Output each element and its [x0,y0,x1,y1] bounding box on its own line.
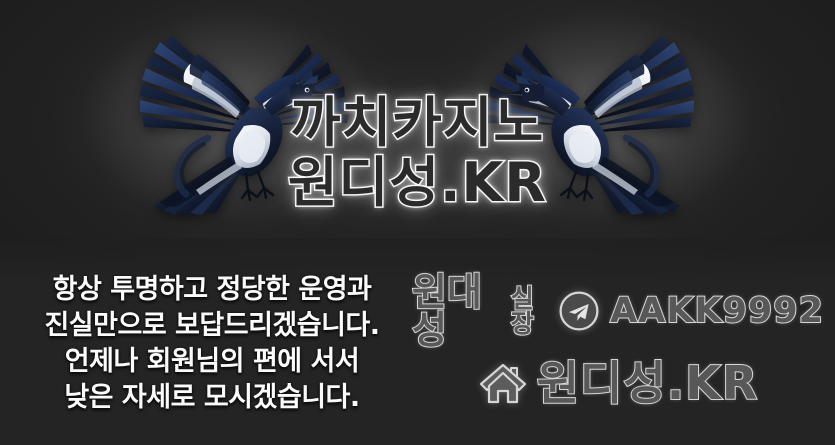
manager-title: 실장 [511,286,549,336]
telegram-handle[interactable]: AAKK9992 [610,294,824,329]
casino-promo-banner: 까치카지노 원디성.KR 항상 투명하고 정당한 운영과 진실만으로 보답드리겠… [0,0,835,445]
slogan-block: 항상 투명하고 정당한 운영과 진실만으로 보답드리겠습니다. 언제나 회원님의… [14,272,410,416]
brand-title-line2: 원디성.KR [0,156,835,210]
manager-name: 원대성 [412,273,500,349]
slogan-line-3: 언제나 회원님의 편에 서서 [14,344,410,380]
logo-hero-area: 까치카지노 원디성.KR [0,0,835,250]
home-icon[interactable] [478,360,528,406]
brand-title: 까치카지노 원디성.KR [0,96,835,210]
telegram-icon[interactable] [558,290,600,332]
website-domain[interactable]: 원디성.KR [537,360,759,406]
website-row[interactable]: 원디성.KR [412,344,824,422]
brand-title-line1: 까치카지노 [0,96,835,150]
slogan-line-1: 항상 투명하고 정당한 운영과 [14,272,410,308]
slogan-line-4: 낮은 자세로 모시겠습니다. [14,380,410,416]
contact-block: 원대성 실장 AAKK9992 원디성.KR [412,280,824,422]
telegram-contact-row[interactable]: 원대성 실장 AAKK9992 [412,280,824,342]
slogan-line-2: 진실만으로 보답드리겠습니다. [14,308,410,344]
